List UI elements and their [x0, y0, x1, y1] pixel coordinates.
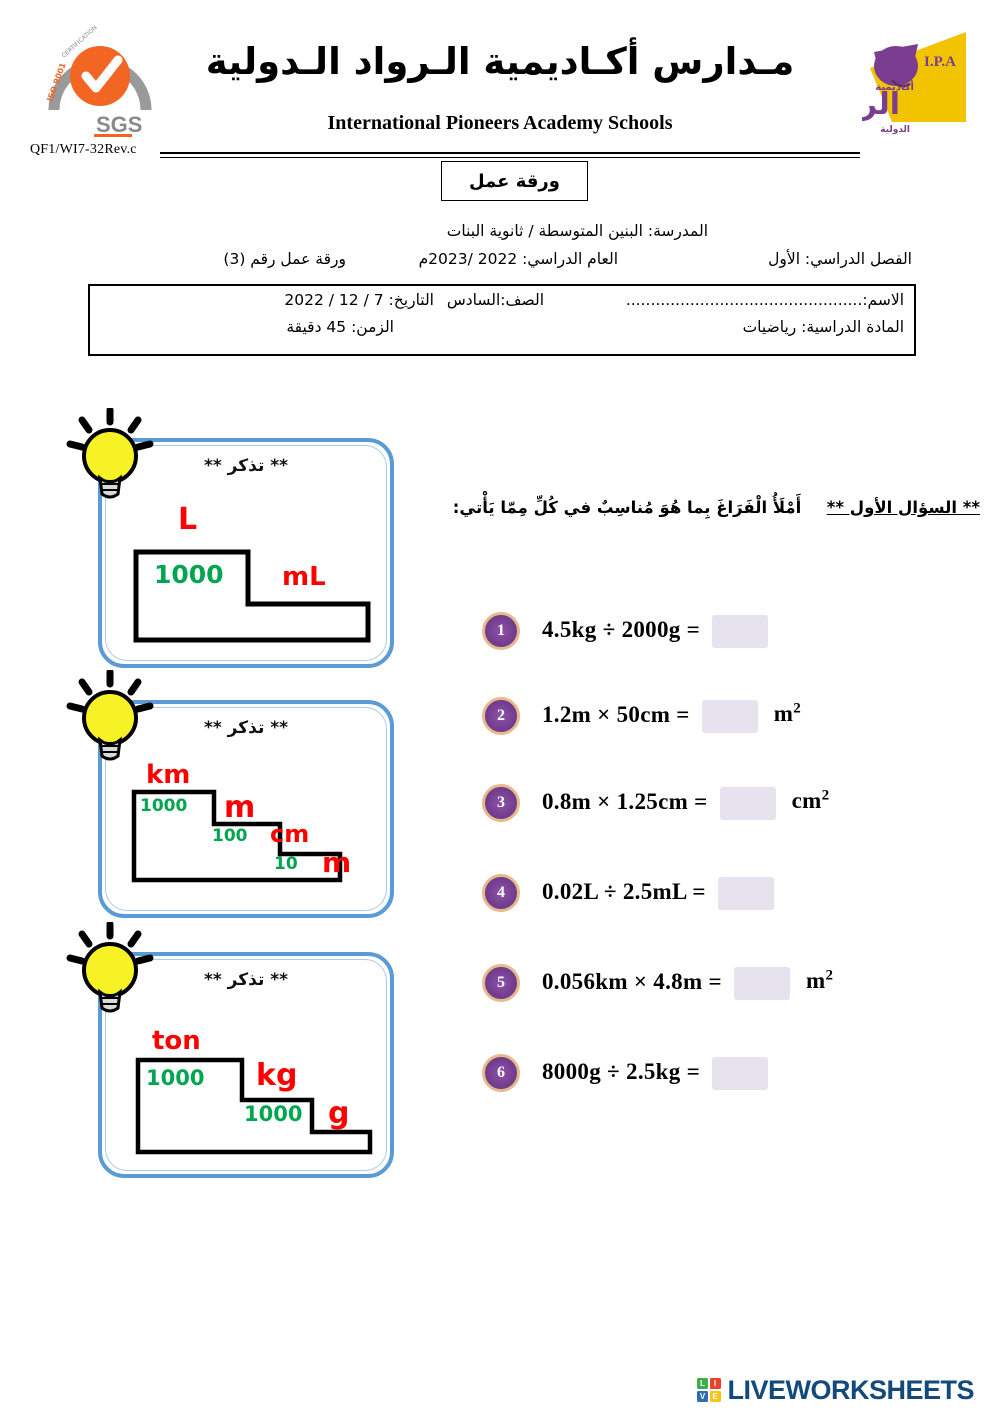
problem-expression: 1.2m × 50cm = m2	[542, 700, 801, 733]
ipa-logo: I.P.A الرواد أكاديمية الدولية	[862, 22, 980, 140]
unit-label-g: g	[328, 1096, 349, 1131]
subject-label: المادة الدراسية: رياضيات	[743, 318, 904, 336]
tile-i: I	[710, 1378, 721, 1389]
reminder-box-mass: ** تذكر ** ton 1000 kg 1000 g	[98, 952, 394, 1178]
ipa-logo-icon: I.P.A الرواد أكاديمية الدولية	[862, 22, 980, 140]
problem-number-badge: 4	[482, 874, 520, 912]
answer-input[interactable]	[718, 877, 774, 910]
problem-left-side: 0.02L ÷ 2.5mL =	[542, 878, 706, 903]
staircase-volume: L 1000 mL	[130, 534, 376, 646]
reminder-box-volume: ** تذكر ** L 1000 mL	[98, 438, 394, 668]
staircase-length: km 1000 m 100 cm 10 m	[128, 762, 378, 894]
unit-label-cm: cm	[270, 820, 309, 848]
school-line: المدرسة: البنين المتوسطة / ثانوية البنات	[447, 222, 708, 240]
problem-left-side: 4.5kg ÷ 2000g =	[542, 616, 700, 641]
problem-expression: 4.5kg ÷ 2000g =	[542, 615, 774, 648]
tile-e: E	[710, 1391, 721, 1402]
academic-year-label: العام الدراسي: 2022 /2023م	[419, 250, 618, 268]
factor-label-1000b: 1000	[244, 1102, 302, 1126]
answer-unit: m2	[774, 701, 801, 726]
unit-label-m: m	[224, 790, 255, 825]
question-instruction: أَمْلَأُ الْفَرَاغَ بِما هُوَ مُناسِبٌ ف…	[453, 498, 802, 517]
problem-row: 4 0.02L ÷ 2.5mL =	[482, 870, 780, 916]
sheet-number-label: ورقة عمل رقم (3)	[223, 250, 346, 268]
svg-text:الدولية: الدولية	[880, 125, 910, 135]
problem-expression: 0.02L ÷ 2.5mL =	[542, 877, 780, 910]
answer-input[interactable]	[734, 967, 790, 1000]
problem-expression: 0.8m × 1.25cm = cm2	[542, 787, 829, 820]
staircase-mass: ton 1000 kg 1000 g	[132, 1034, 380, 1158]
lightbulb-glyph	[62, 408, 158, 504]
factor-label-100: 100	[212, 826, 248, 846]
unit-label-kg: kg	[256, 1058, 297, 1093]
unit-label-ton: ton	[152, 1026, 201, 1056]
date-label: التاريخ: 7 / 12 / 2022	[284, 291, 434, 309]
problem-number-badge: 2	[482, 697, 520, 735]
unit-label-mm: m	[322, 846, 351, 879]
liveworksheets-wordmark: LIVEWORKSHEETS	[728, 1375, 975, 1406]
unit-label-L: L	[178, 502, 197, 537]
question-heading: ** السؤال الأول ** أَمْلَأُ الْفَرَاغَ ب…	[410, 498, 980, 517]
svg-text:أكاديمية: أكاديمية	[875, 80, 914, 93]
answer-input[interactable]	[712, 1057, 768, 1090]
question-label: ** السؤال الأول **	[827, 498, 980, 517]
problem-row: 1 4.5kg ÷ 2000g =	[482, 608, 774, 654]
problem-number-badge: 5	[482, 964, 520, 1002]
problem-row: 2 1.2m × 50cm = m2	[482, 693, 801, 739]
lightbulb-icon	[62, 670, 158, 766]
grade-label: الصف:السادس	[447, 291, 544, 309]
tile-v: V	[697, 1391, 708, 1402]
problem-row: 3 0.8m × 1.25cm = cm2	[482, 780, 829, 826]
lightbulb-icon	[62, 408, 158, 504]
header-divider	[160, 152, 860, 158]
problem-number-badge: 1	[482, 612, 520, 650]
student-info-table: الاسم:..................................…	[88, 284, 916, 356]
problem-left-side: 8000g ÷ 2.5kg =	[542, 1058, 700, 1083]
factor-label-1000: 1000	[146, 1066, 204, 1090]
svg-text:I.P.A: I.P.A	[924, 54, 956, 70]
school-name-english: International Pioneers Academy Schools	[0, 112, 1000, 135]
answer-unit: cm2	[792, 788, 830, 813]
staircase-diagram-1	[130, 534, 376, 646]
problem-row: 5 0.056km × 4.8m = m2	[482, 960, 833, 1006]
semester-label: الفصل الدراسي: الأول	[768, 250, 912, 268]
document-code: QF1/WI7-32Rev.c	[30, 142, 137, 158]
answer-input[interactable]	[712, 615, 768, 648]
lightbulb-glyph	[62, 670, 158, 766]
factor-label-10: 10	[274, 854, 298, 874]
reminder-box-length: ** تذكر ** km 1000 m 100 cm 10 m	[98, 700, 394, 918]
problem-left-side: 1.2m × 50cm =	[542, 701, 690, 726]
school-name-arabic: مـدارس أكـاديمية الـرواد الـدولية	[0, 40, 1000, 83]
tile-l: L	[697, 1378, 708, 1389]
problem-row: 6 8000g ÷ 2.5kg =	[482, 1050, 774, 1096]
answer-unit: m2	[806, 968, 833, 993]
worksheet-page: CERTIFICATION ISO 9001 SGS QF1/WI7-32Rev…	[0, 0, 1000, 1413]
worksheet-title-box: ورقة عمل	[441, 161, 588, 201]
liveworksheets-logo: L I V E LIVEWORKSHEETS	[697, 1374, 974, 1406]
info-row-secondary: الفصل الدراسي: الأول العام الدراسي: 2022…	[88, 250, 912, 276]
problem-expression: 0.056km × 4.8m = m2	[542, 967, 833, 1000]
problem-left-side: 0.8m × 1.25cm =	[542, 788, 708, 813]
problem-number-badge: 3	[482, 784, 520, 822]
liveworksheets-tiles: L I V E	[697, 1378, 721, 1402]
lightbulb-icon	[62, 922, 158, 1018]
name-field-label[interactable]: الاسم:..................................…	[626, 291, 904, 309]
time-label: الزمن: 45 دقيقة	[286, 318, 394, 336]
answer-input[interactable]	[720, 787, 776, 820]
problem-left-side: 0.056km × 4.8m =	[542, 968, 722, 993]
answer-input[interactable]	[702, 700, 758, 733]
lightbulb-glyph	[62, 922, 158, 1018]
factor-label-1000: 1000	[140, 796, 187, 816]
problem-expression: 8000g ÷ 2.5kg =	[542, 1057, 774, 1090]
problem-number-badge: 6	[482, 1054, 520, 1092]
unit-label-mL: mL	[282, 562, 326, 592]
page-header: CERTIFICATION ISO 9001 SGS QF1/WI7-32Rev…	[0, 0, 1000, 160]
factor-label-1000: 1000	[154, 560, 224, 589]
